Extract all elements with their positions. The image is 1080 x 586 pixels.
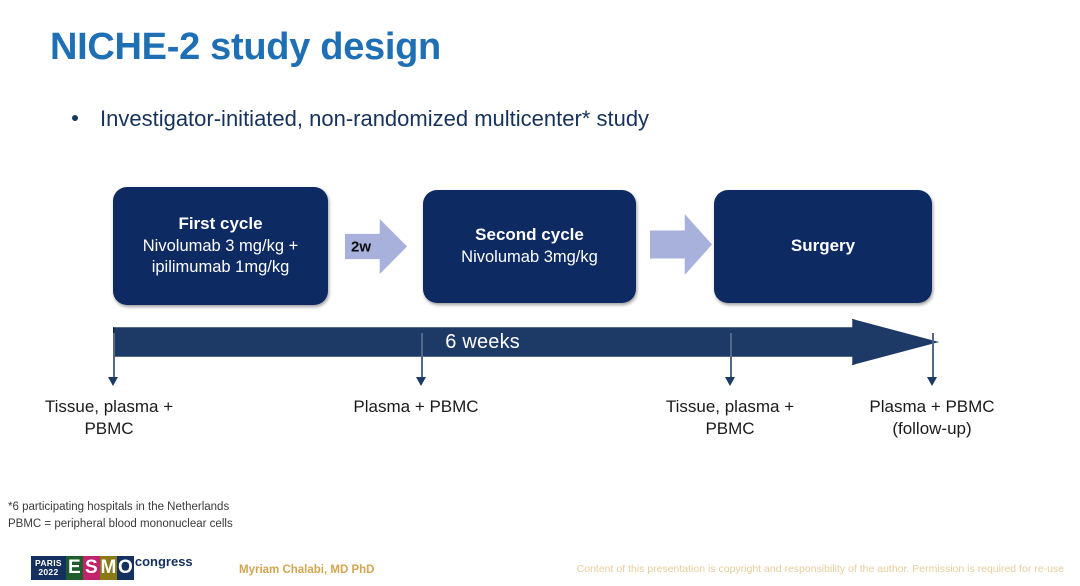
flow-box-title: First cycle xyxy=(178,213,262,236)
sample-label-line-1: Tissue, plasma + xyxy=(14,396,204,418)
step-arrow-2w-icon: 2w xyxy=(345,219,407,274)
esmo-logo-year: 2022 xyxy=(35,568,62,577)
bullet-item-text: Investigator-initiated, non-randomized m… xyxy=(100,106,649,132)
sample-label-line-2: (follow-up) xyxy=(842,418,1022,440)
esmo-logo-letter-e: E xyxy=(66,556,83,580)
flow-box-second-cycle: Second cycle Nivolumab 3mg/kg xyxy=(423,190,636,303)
esmo-logo-letter-s: S xyxy=(83,556,100,580)
sample-label-line-1: Plasma + PBMC xyxy=(326,396,506,418)
sample-label-line-2: PBMC xyxy=(14,418,204,440)
page-title: NICHE-2 study design xyxy=(50,26,441,69)
step-arrow-label: 2w xyxy=(351,238,371,255)
sample-label-1: Tissue, plasma + PBMC xyxy=(14,396,204,441)
slide-canvas: NICHE-2 study design Investigator-initia… xyxy=(0,0,1080,586)
footnotes: *6 participating hospitals in the Nether… xyxy=(8,499,233,532)
esmo-logo-letter-m: M xyxy=(100,556,117,580)
esmo-logo-word: congress xyxy=(135,554,193,569)
esmo-logo-letter-o: O xyxy=(117,556,134,580)
copyright-notice: Content of this presentation is copyrigh… xyxy=(577,563,1064,575)
flow-box-title: Second cycle xyxy=(475,224,584,247)
bullet-item: Investigator-initiated, non-randomized m… xyxy=(72,106,649,132)
flow-box-first-cycle: First cycle Nivolumab 3 mg/kg + ipilimum… xyxy=(113,187,328,305)
esmo-logo-city-year: PARIS 2022 xyxy=(31,556,66,580)
sample-label-3: Tissue, plasma + PBMC xyxy=(635,396,825,441)
step-arrow-icon xyxy=(650,214,712,275)
sample-label-line-1: Plasma + PBMC xyxy=(842,396,1022,418)
timeline-duration-label: 6 weeks xyxy=(113,319,852,365)
slide-footer: PARIS 2022 E S M O congress Myriam Chala… xyxy=(0,540,1080,586)
timeline-arrow: 6 weeks xyxy=(113,319,939,365)
flow-box-surgery: Surgery xyxy=(714,190,932,303)
footnote-line-1: *6 participating hospitals in the Nether… xyxy=(8,499,233,516)
presenter-name: Myriam Chalabi, MD PhD xyxy=(239,564,374,576)
flow-box-line-1: Nivolumab 3 mg/kg + xyxy=(143,236,298,258)
footnote-line-2: PBMC = peripheral blood mononuclear cell… xyxy=(8,516,233,533)
flow-box-title: Surgery xyxy=(791,235,855,258)
bullet-dot-icon xyxy=(72,115,78,121)
sample-label-line-1: Tissue, plasma + xyxy=(635,396,825,418)
sample-label-4: Plasma + PBMC (follow-up) xyxy=(842,396,1022,441)
sample-label-2: Plasma + PBMC xyxy=(326,396,506,418)
flow-box-line-2: ipilimumab 1mg/kg xyxy=(152,257,290,279)
flow-box-line-1: Nivolumab 3mg/kg xyxy=(461,247,598,269)
esmo-congress-logo: PARIS 2022 E S M O congress xyxy=(31,554,193,580)
sample-label-line-2: PBMC xyxy=(635,418,825,440)
